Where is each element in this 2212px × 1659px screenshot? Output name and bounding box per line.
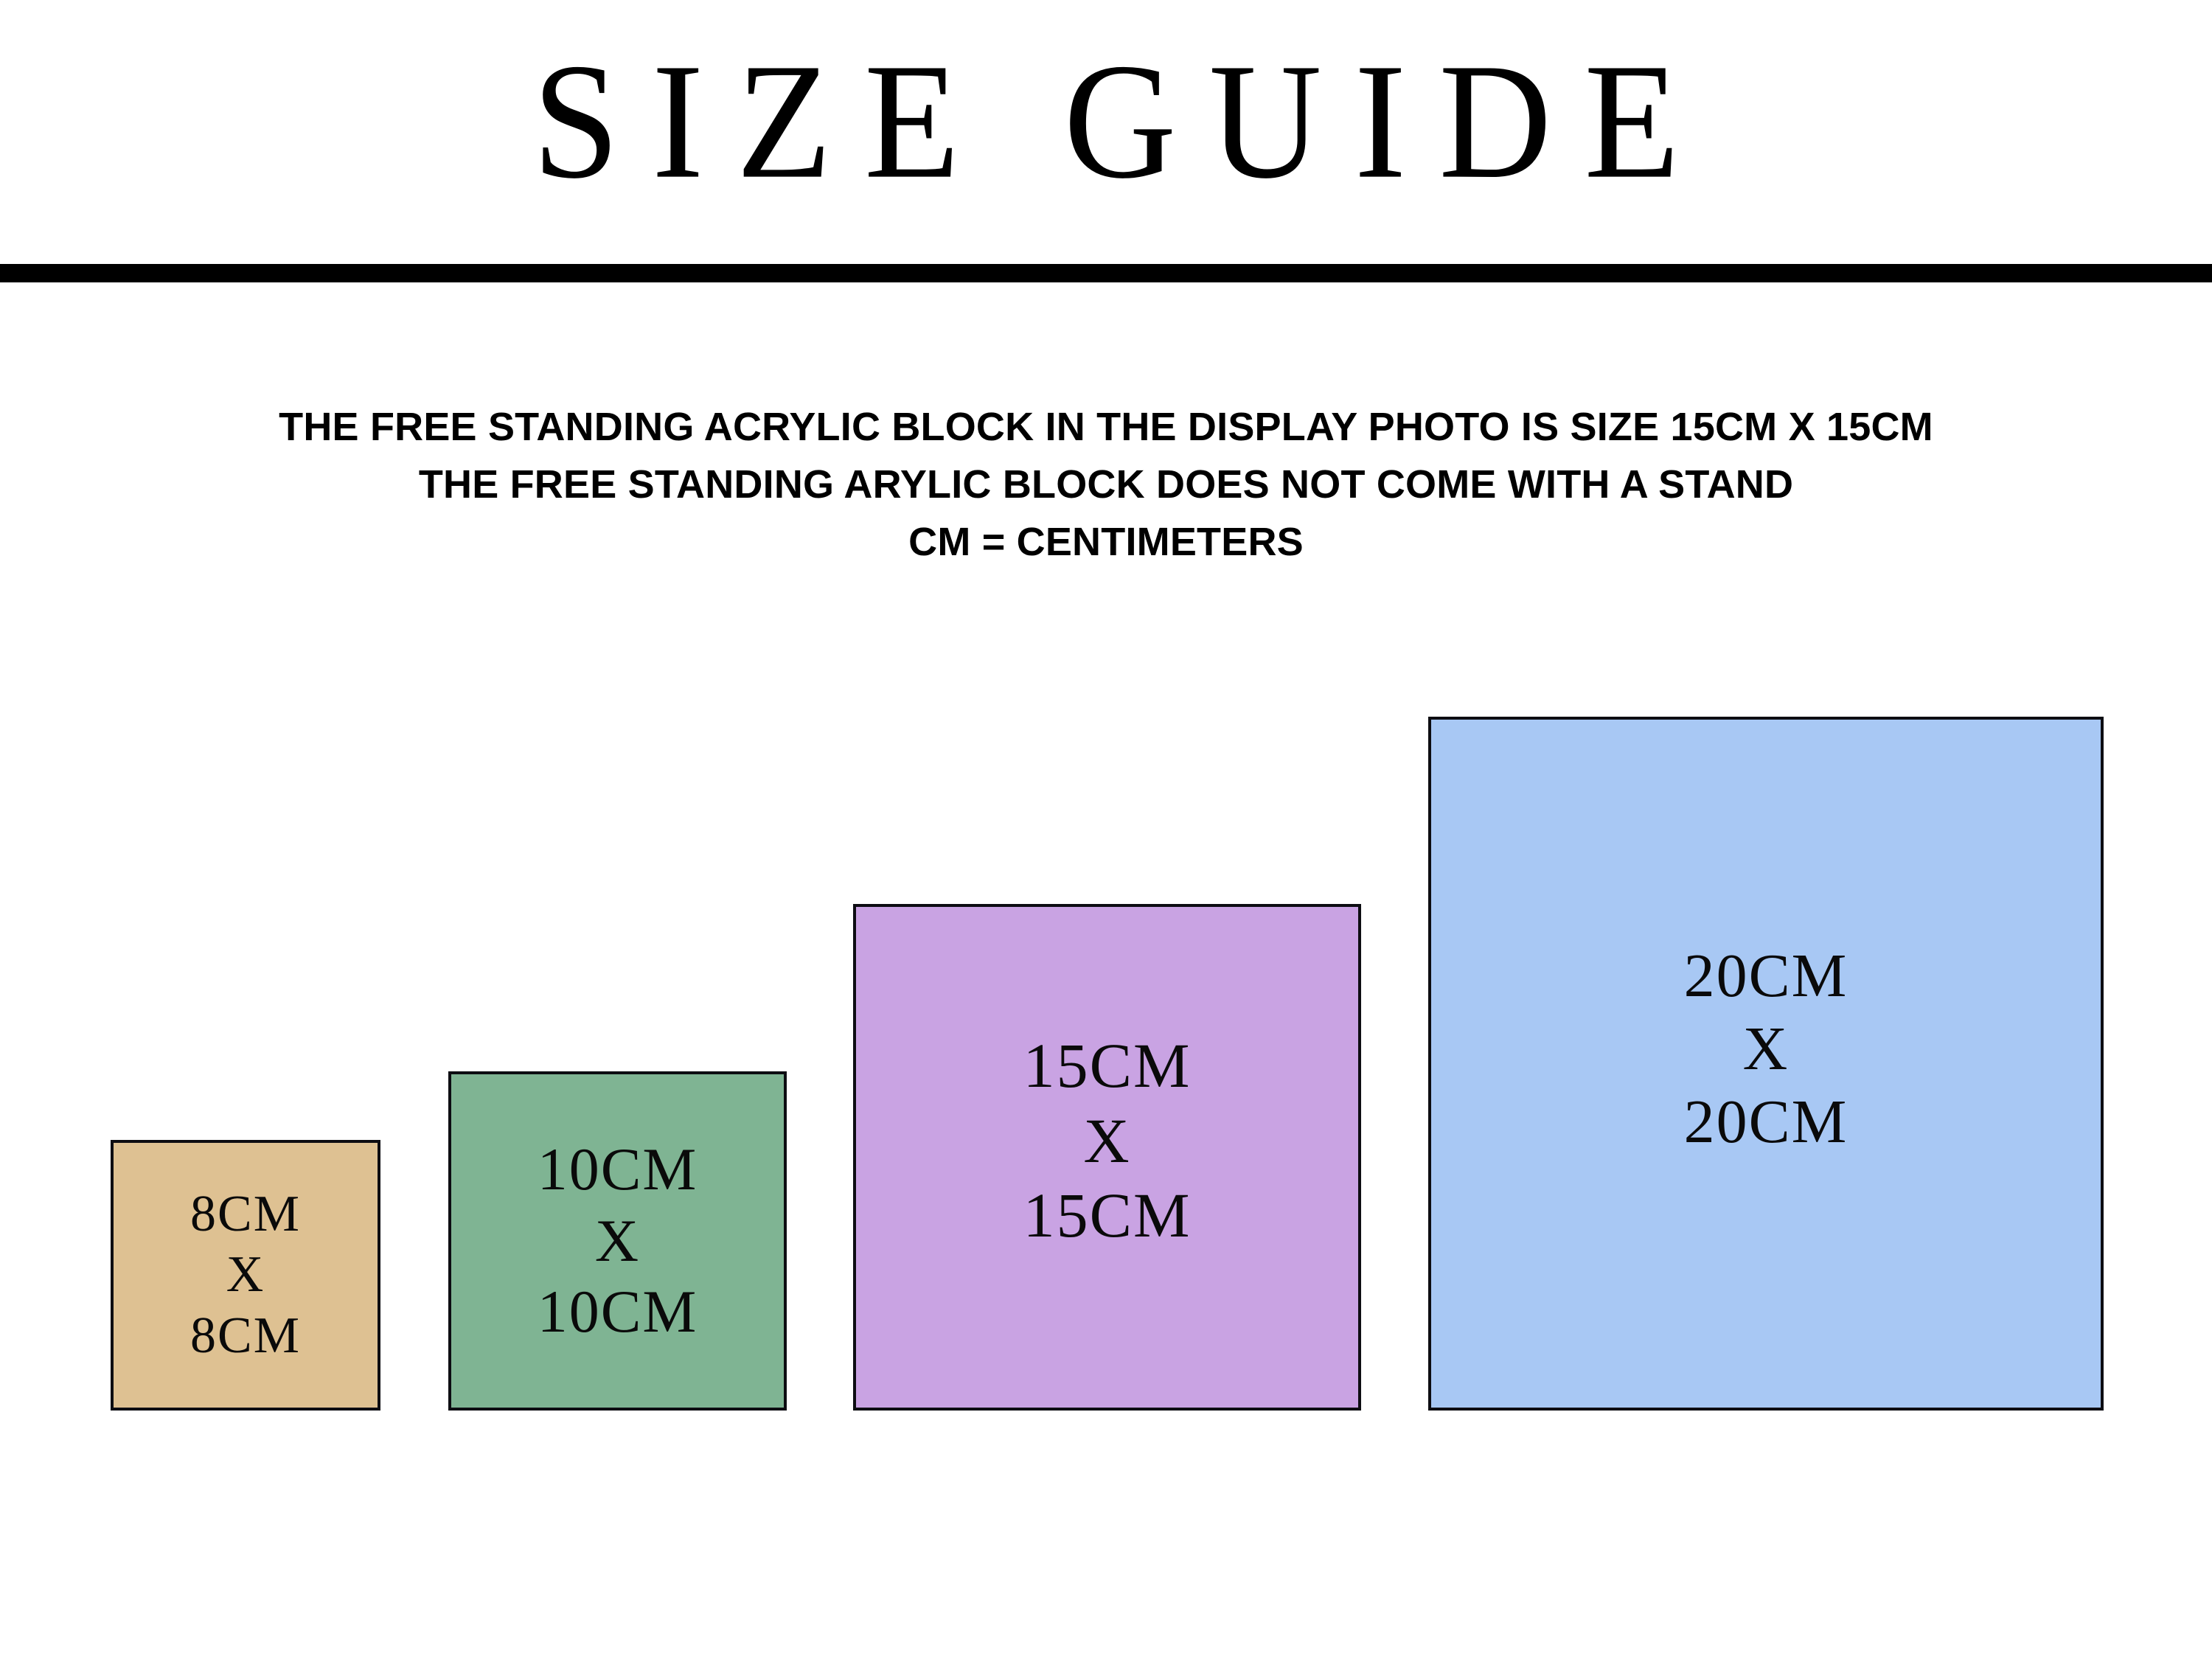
size-swatch-8cm[interactable]: 8CM X 8CM: [111, 1140, 380, 1411]
size-guide-page: SIZE GUIDE THE FREE STANDING ACRYLIC BLO…: [0, 0, 2212, 1659]
size-swatch-15cm-label: 15CM X 15CM: [1023, 1029, 1192, 1253]
size-swatch-10cm-label: 10CM X 10CM: [538, 1134, 698, 1348]
size-swatch-10cm[interactable]: 10CM X 10CM: [448, 1071, 787, 1411]
size-swatch-15cm[interactable]: 15CM X 15CM: [853, 904, 1361, 1411]
size-swatch-20cm-label: 20CM X 20CM: [1684, 939, 1848, 1158]
size-swatch-8cm-label: 8CM X 8CM: [190, 1184, 301, 1367]
size-swatch-20cm[interactable]: 20CM X 20CM: [1428, 717, 2104, 1411]
size-swatch-row: 8CM X 8CM 10CM X 10CM 15CM X 15CM 20CM X…: [0, 0, 2212, 1659]
